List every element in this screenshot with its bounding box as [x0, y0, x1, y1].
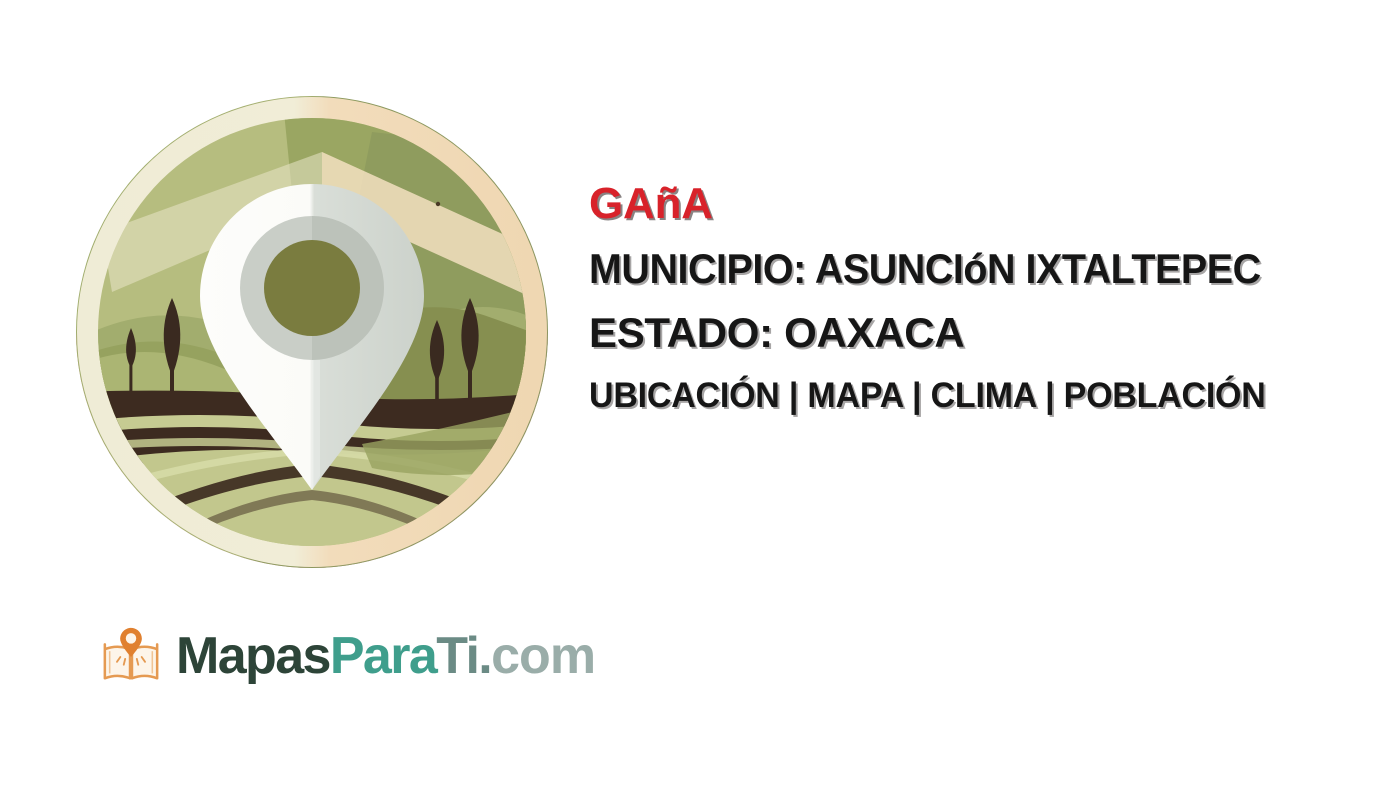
- open-book-map-pin-icon: [100, 625, 162, 687]
- brand-wordmark: MapasParaTi.com: [176, 630, 595, 682]
- nav-links-line[interactable]: UBICACIÓN | MAPA | CLIMA | POBLACIÓN: [589, 378, 1365, 413]
- info-text-block: GAñA MUNICIPIO: ASUNCIóN IXTALTEPEC ESTA…: [589, 182, 1389, 413]
- rural-landscape-map-pin-emblem: [72, 92, 552, 572]
- brand-segment-mapas: Mapas: [176, 627, 330, 685]
- brand-logo[interactable]: MapasParaTi.com: [100, 620, 595, 692]
- emblem-logo: [72, 92, 552, 572]
- municipio-line: MUNICIPIO: ASUNCIóN IXTALTEPEC: [589, 248, 1341, 290]
- page-title: GAñA: [589, 182, 1389, 226]
- page-root: GAñA MUNICIPIO: ASUNCIóN IXTALTEPEC ESTA…: [0, 0, 1400, 786]
- brand-segment-para: Para: [330, 627, 436, 685]
- brand-segment-ti: Ti.: [436, 627, 491, 685]
- estado-line: ESTADO: OAXACA: [589, 312, 1389, 354]
- image-speck-artifact: [436, 202, 440, 206]
- brand-segment-com: com: [491, 627, 595, 685]
